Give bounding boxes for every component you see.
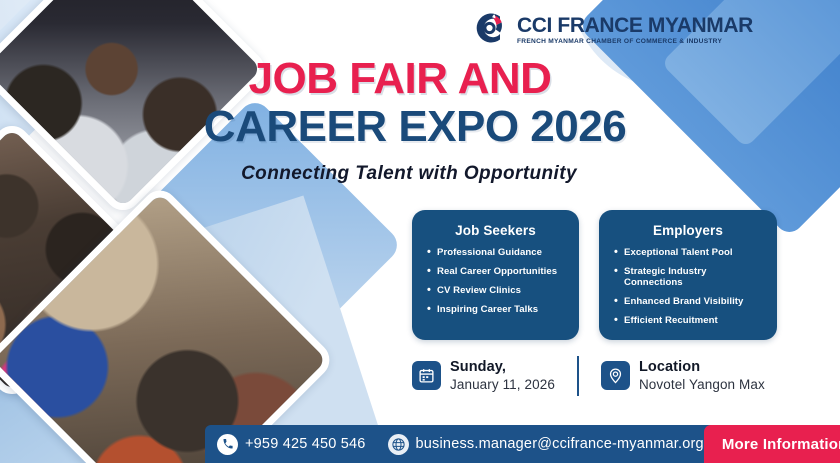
card-title: Job Seekers xyxy=(427,223,564,238)
contact-email-value: business.manager@ccifrance-myanmar.org xyxy=(416,436,704,452)
event-date: Sunday, January 11, 2026 xyxy=(412,359,555,393)
more-information-button[interactable]: More Information xyxy=(704,425,840,463)
list-item: CV Review Clinics xyxy=(427,285,564,296)
divider xyxy=(577,356,579,396)
contact-phone-value: +959 425 450 546 xyxy=(245,436,366,452)
map-pin-icon xyxy=(601,361,630,390)
list-item: Real Career Opportunities xyxy=(427,266,564,277)
headline-block: JOB FAIR AND CAREER EXPO 2026 Connecting… xyxy=(0,56,840,185)
list-item: Professional Guidance xyxy=(427,247,564,258)
list-item: Strategic Industry Connections xyxy=(614,266,762,288)
event-location-secondary: Novotel Yangon Max xyxy=(639,377,765,393)
phone-icon xyxy=(217,434,238,455)
event-location-primary: Location xyxy=(639,359,765,376)
contact-email[interactable]: business.manager@ccifrance-myanmar.org xyxy=(388,434,704,455)
card-job-seekers: Job Seekers Professional Guidance Real C… xyxy=(412,210,579,340)
tagline: Connecting Talent with Opportunity xyxy=(0,163,840,185)
benefit-list: Professional Guidance Real Career Opport… xyxy=(427,247,564,315)
page-title-line-1: JOB FAIR AND xyxy=(0,56,840,102)
list-item: Inspiring Career Talks xyxy=(427,304,564,315)
event-details-row: Sunday, January 11, 2026 Location Novote… xyxy=(412,356,765,396)
contact-bar: +959 425 450 546 business.manager@ccifra… xyxy=(205,425,840,463)
list-item: Enhanced Brand Visibility xyxy=(614,296,762,307)
benefit-list: Exceptional Talent Pool Strategic Indust… xyxy=(614,247,762,326)
calendar-icon xyxy=(412,361,441,390)
globe-icon xyxy=(388,434,409,455)
page-title-line-2: CAREER EXPO 2026 xyxy=(0,104,840,150)
event-date-secondary: January 11, 2026 xyxy=(450,377,555,393)
contact-phone[interactable]: +959 425 450 546 xyxy=(217,434,366,455)
cci-circle-flag-logo-icon xyxy=(470,8,510,53)
job-fair-promo-banner: CCI FRANCE MYANMAR FRENCH MYANMAR CHAMBE… xyxy=(0,0,840,463)
event-date-primary: Sunday, xyxy=(450,359,555,376)
audience-cards: Job Seekers Professional Guidance Real C… xyxy=(412,210,777,340)
brand-logo: CCI FRANCE MYANMAR FRENCH MYANMAR CHAMBE… xyxy=(470,8,753,53)
card-employers: Employers Exceptional Talent Pool Strate… xyxy=(599,210,777,340)
brand-name: CCI FRANCE MYANMAR xyxy=(517,15,753,36)
card-title: Employers xyxy=(614,223,762,238)
event-location: Location Novotel Yangon Max xyxy=(601,359,765,393)
list-item: Exceptional Talent Pool xyxy=(614,247,762,258)
list-item: Efficient Recuitment xyxy=(614,315,762,326)
brand-subtitle: FRENCH MYANMAR CHAMBER OF COMMERCE & IND… xyxy=(517,39,753,46)
